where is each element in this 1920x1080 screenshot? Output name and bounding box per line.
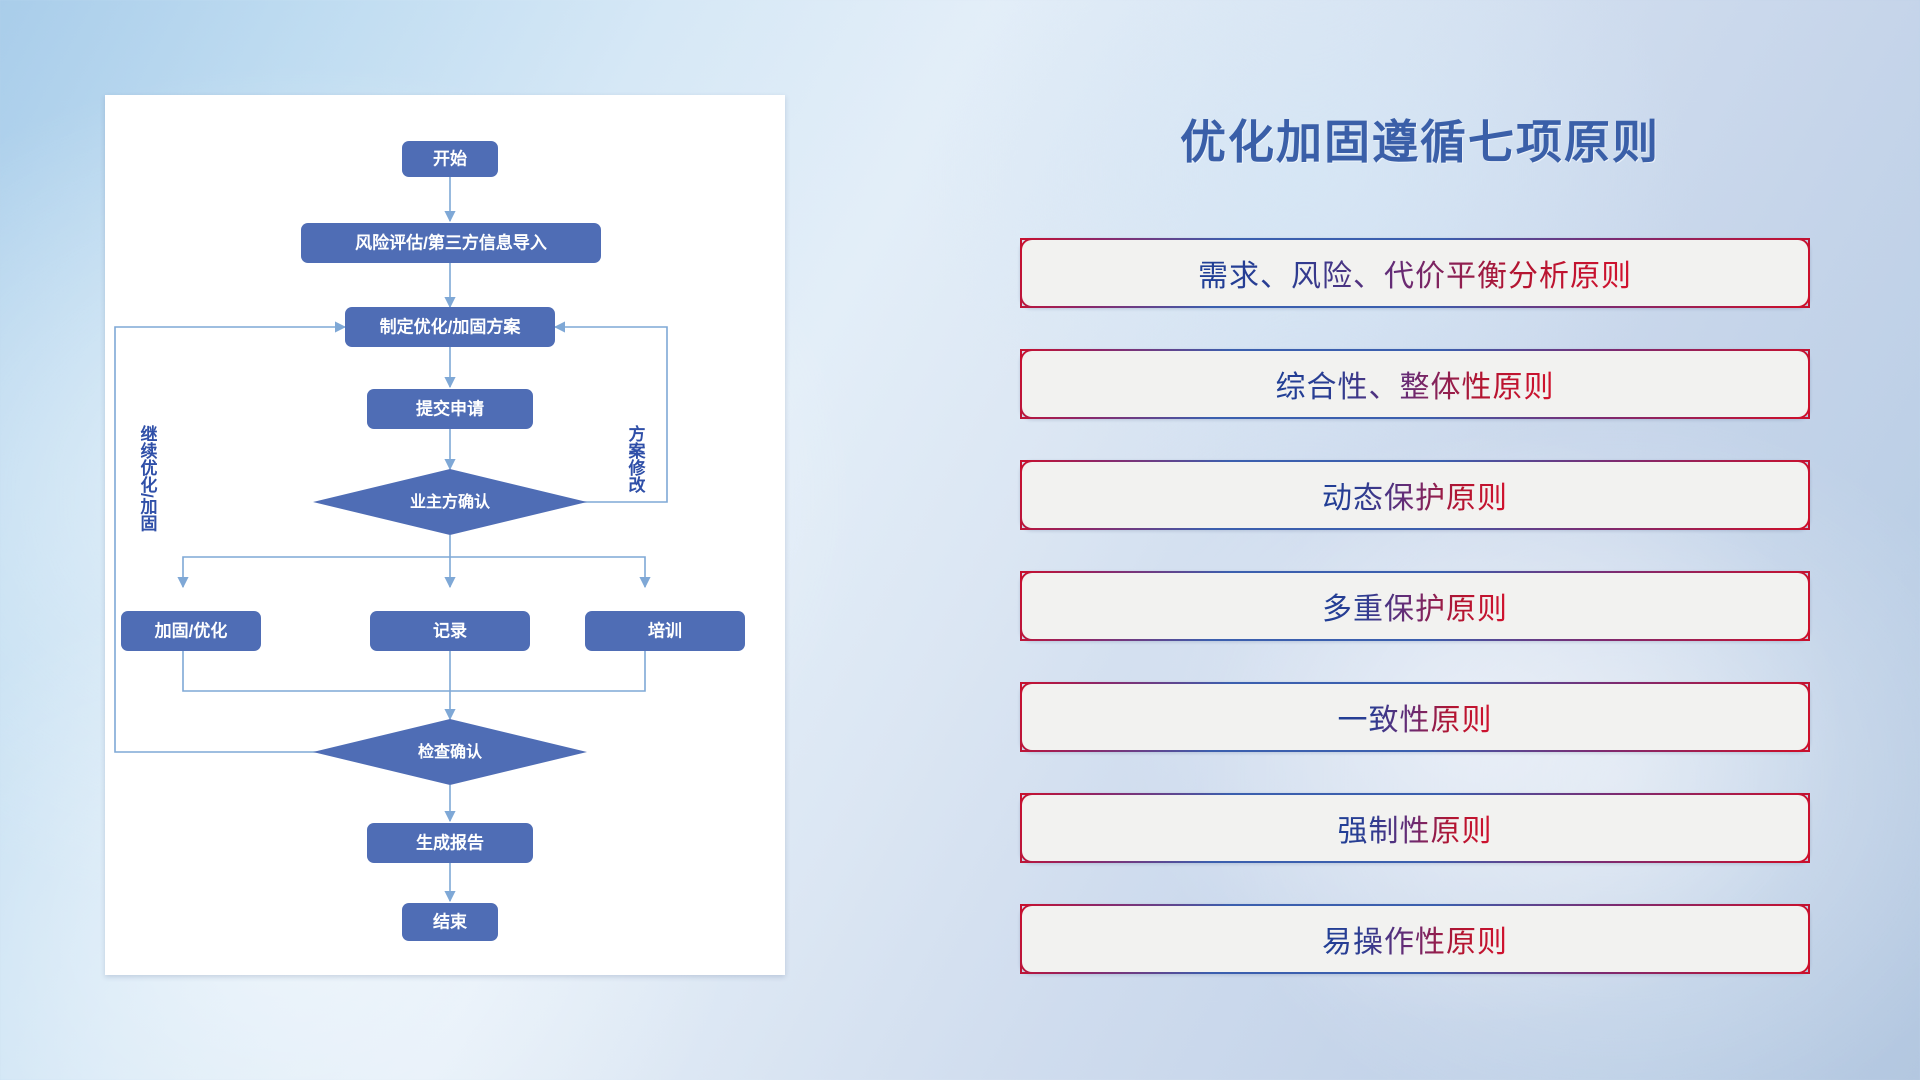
svg-text:提交申请: 提交申请 xyxy=(416,398,484,418)
principle-label: 需求、风险、代价平衡分析原则 xyxy=(1198,251,1632,295)
principle-card[interactable]: 多重保护原则 xyxy=(1020,571,1810,641)
node-risk-assessment: 风险评估/第三方信息导入 xyxy=(301,223,601,263)
principle-label: 动态保护原则 xyxy=(1322,473,1508,517)
page-title: 优化加固遵循七项原则 xyxy=(1020,106,1820,172)
principle-card[interactable]: 动态保护原则 xyxy=(1020,460,1810,530)
node-owner-confirm: 业主方确认 xyxy=(313,469,587,535)
principle-label: 一致性原则 xyxy=(1338,695,1493,739)
side-label-plan-revise: 方案修改 xyxy=(626,424,647,494)
svg-text:风险评估/第三方信息导入: 风险评估/第三方信息导入 xyxy=(355,232,547,252)
side-label-continue-optimize: 继续优化/加固 xyxy=(138,424,159,533)
svg-text:开始: 开始 xyxy=(433,148,467,168)
node-submit: 提交申请 xyxy=(367,389,533,429)
node-start: 开始 xyxy=(402,141,498,177)
svg-text:生成报告: 生成报告 xyxy=(416,832,484,852)
svg-text:加固/优化: 加固/优化 xyxy=(154,620,228,640)
node-plan: 制定优化/加固方案 xyxy=(345,307,555,347)
principle-card[interactable]: 需求、风险、代价平衡分析原则 xyxy=(1020,238,1810,308)
node-record: 记录 xyxy=(370,611,530,651)
node-reinforce: 加固/优化 xyxy=(121,611,261,651)
principle-card[interactable]: 一致性原则 xyxy=(1020,682,1810,752)
principle-label: 强制性原则 xyxy=(1338,806,1493,850)
svg-text:业主方确认: 业主方确认 xyxy=(410,492,491,511)
svg-text:检查确认: 检查确认 xyxy=(418,742,483,761)
principle-card[interactable]: 强制性原则 xyxy=(1020,793,1810,863)
principles-list: 需求、风险、代价平衡分析原则 综合性、整体性原则 动态保护原则 多重保护原则 一… xyxy=(1020,238,1820,1015)
principle-card[interactable]: 综合性、整体性原则 xyxy=(1020,349,1810,419)
svg-text:培训: 培训 xyxy=(648,620,682,640)
principle-label: 综合性、整体性原则 xyxy=(1276,362,1555,406)
svg-text:记录: 记录 xyxy=(433,621,467,640)
flowchart-connectors xyxy=(115,177,667,901)
node-report: 生成报告 xyxy=(367,823,533,863)
principle-label: 易操作性原则 xyxy=(1322,917,1508,961)
flowchart-nodes: 开始 风险评估/第三方信息导入 制定优化/加固方案 提交申请 业主方确认 加固/… xyxy=(121,141,745,941)
principle-label: 多重保护原则 xyxy=(1322,584,1508,628)
svg-text:结束: 结束 xyxy=(433,911,467,931)
principles-pane: 优化加固遵循七项原则 需求、风险、代价平衡分析原则 综合性、整体性原则 动态保护… xyxy=(1020,0,1840,1080)
node-training: 培训 xyxy=(585,611,745,651)
principle-card[interactable]: 易操作性原则 xyxy=(1020,904,1810,974)
svg-text:制定优化/加固方案: 制定优化/加固方案 xyxy=(380,316,522,336)
node-check-confirm: 检查确认 xyxy=(313,719,587,785)
node-end: 结束 xyxy=(402,903,498,941)
flowchart-diagram: 开始 风险评估/第三方信息导入 制定优化/加固方案 提交申请 业主方确认 加固/… xyxy=(105,95,785,975)
